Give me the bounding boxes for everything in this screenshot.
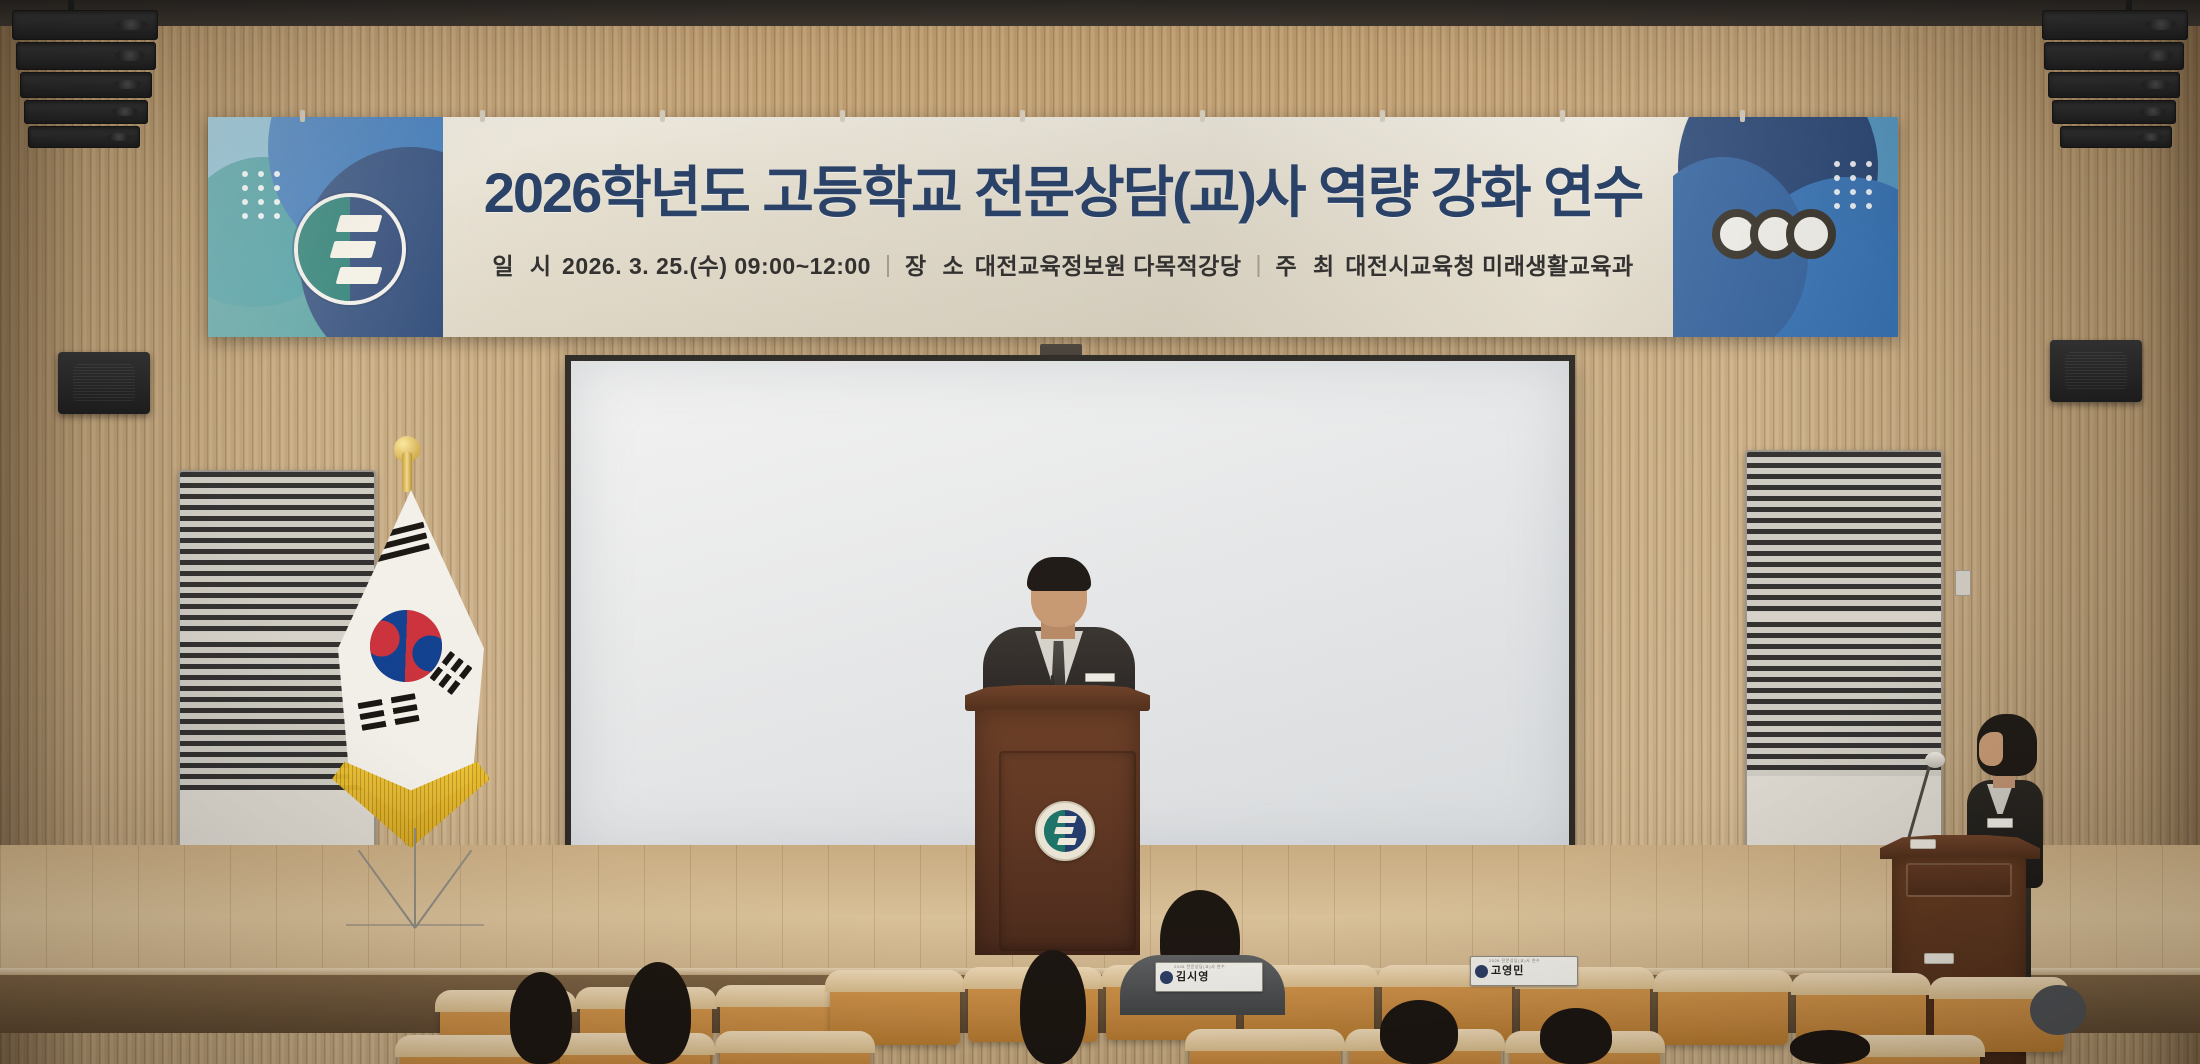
banner-info-value-venue: 대전교육정보원 다목적강당 [975,253,1242,279]
banner-title: 2026학년도 고등학교 전문상담(교)사 역량 강화 연수 [458,165,1668,221]
speaker-cabinet [20,72,152,98]
seat-name-tag-subtext: 2026 전문상담(교)사 연수 [1174,964,1225,970]
wall-speaker-right [2050,340,2142,402]
ceiling-band [0,0,2200,26]
side-podium-plate [1924,953,1954,964]
attendee-head [1380,1000,1458,1064]
banner-tab [1020,110,1025,122]
banner-info-label-host: 주 최 [1275,253,1339,279]
seat-name-tag-subtext: 2026 전문상담(교)사 연수 [1489,958,1540,964]
line-array-right [2032,0,2192,155]
side-podium-panel [1906,863,2012,897]
attendee-head [1020,950,1086,1064]
podium-emblem [1035,801,1095,861]
wall-panel-switch[interactable] [1955,570,1971,596]
seat-name-tag-emblem [1160,971,1173,984]
seat[interactable] [1190,1034,1340,1064]
speaker-cabinet [2060,126,2172,148]
banner-info-value-datetime: 2026. 3. 25.(수) 09:00~12:00 [562,253,871,279]
side-podium-top-plate [1910,839,1936,849]
seat[interactable] [720,1036,870,1064]
gooseneck-microphone [1925,752,1945,768]
banner-tab [1740,110,1745,122]
seat-name-tag-name: 김시영 [1176,972,1209,983]
speaker-cabinet [2052,100,2176,124]
banner-tab [840,110,845,122]
speaker-cabinet [24,100,148,124]
korean-national-flag [330,452,500,932]
side-podium-top [1880,835,2040,859]
speaker-cabinet [12,10,158,40]
auditorium-photo: 2026학년도 고등학교 전문상담(교)사 역량 강화 연수 일 시2026. … [0,0,2200,1064]
event-banner: 2026학년도 고등학교 전문상담(교)사 역량 강화 연수 일 시2026. … [208,117,1898,337]
flag-stand [340,824,490,928]
trigram-geon [369,522,431,568]
main-podium [965,685,1150,955]
attendee-head [625,962,691,1064]
ac-unit-right [1745,450,1943,850]
flag-pole [402,452,412,492]
seat-name-tag-name: 고영민 [1491,966,1524,977]
banner-sheen [208,117,1898,337]
presenter-hair [1027,557,1091,591]
banner-tab [1560,110,1565,122]
attendee-head [2030,985,2086,1035]
banner-info-label-datetime: 일 시 [492,253,556,279]
banner-tab [1380,110,1385,122]
banner-tab [660,110,665,122]
podium-body [975,709,1140,955]
banner-info-datetime: 일 시2026. 3. 25.(수) 09:00~12:00 [478,247,885,281]
speaker-cabinet [16,42,156,70]
seat[interactable] [1658,975,1788,1045]
attendee-head [1540,1008,1612,1064]
host-name-badge [1987,818,2013,828]
speaker-cabinet [2042,10,2188,40]
banner-info-label-venue: 장 소 [905,253,969,279]
banner-info-venue: 장 소대전교육정보원 다목적강당 [891,247,1256,281]
banner-subtitle: 일 시2026. 3. 25.(수) 09:00~12:00 | 장 소대전교육… [458,247,1668,281]
speaker-cabinet [2048,72,2180,98]
attendee-head [1790,1030,1870,1064]
line-array-left [8,0,168,155]
banner-info-value-host: 대전시교육청 미래생활교육과 [1345,253,1633,279]
seat-name-tag: 2026 전문상담(교)사 연수 고영민 [1470,956,1578,986]
trigram-gon [358,693,421,736]
podium-top [965,685,1150,711]
banner-tab [300,110,305,122]
speaker-cabinet [28,126,140,148]
wall-speaker-left [58,352,150,414]
presenter-name-badge [1085,673,1115,682]
attendee-head [510,972,572,1064]
speaker-cabinet [2044,42,2184,70]
banner-info-host: 주 최대전시교육청 미래생활교육과 [1261,247,1647,281]
seat-name-tag-emblem [1475,965,1488,978]
banner-tab [1200,110,1205,122]
host-hair-face-opening [1979,732,2003,766]
banner-tab [480,110,485,122]
seat-name-tag: 2026 전문상담(교)사 연수 김시영 [1155,962,1263,992]
